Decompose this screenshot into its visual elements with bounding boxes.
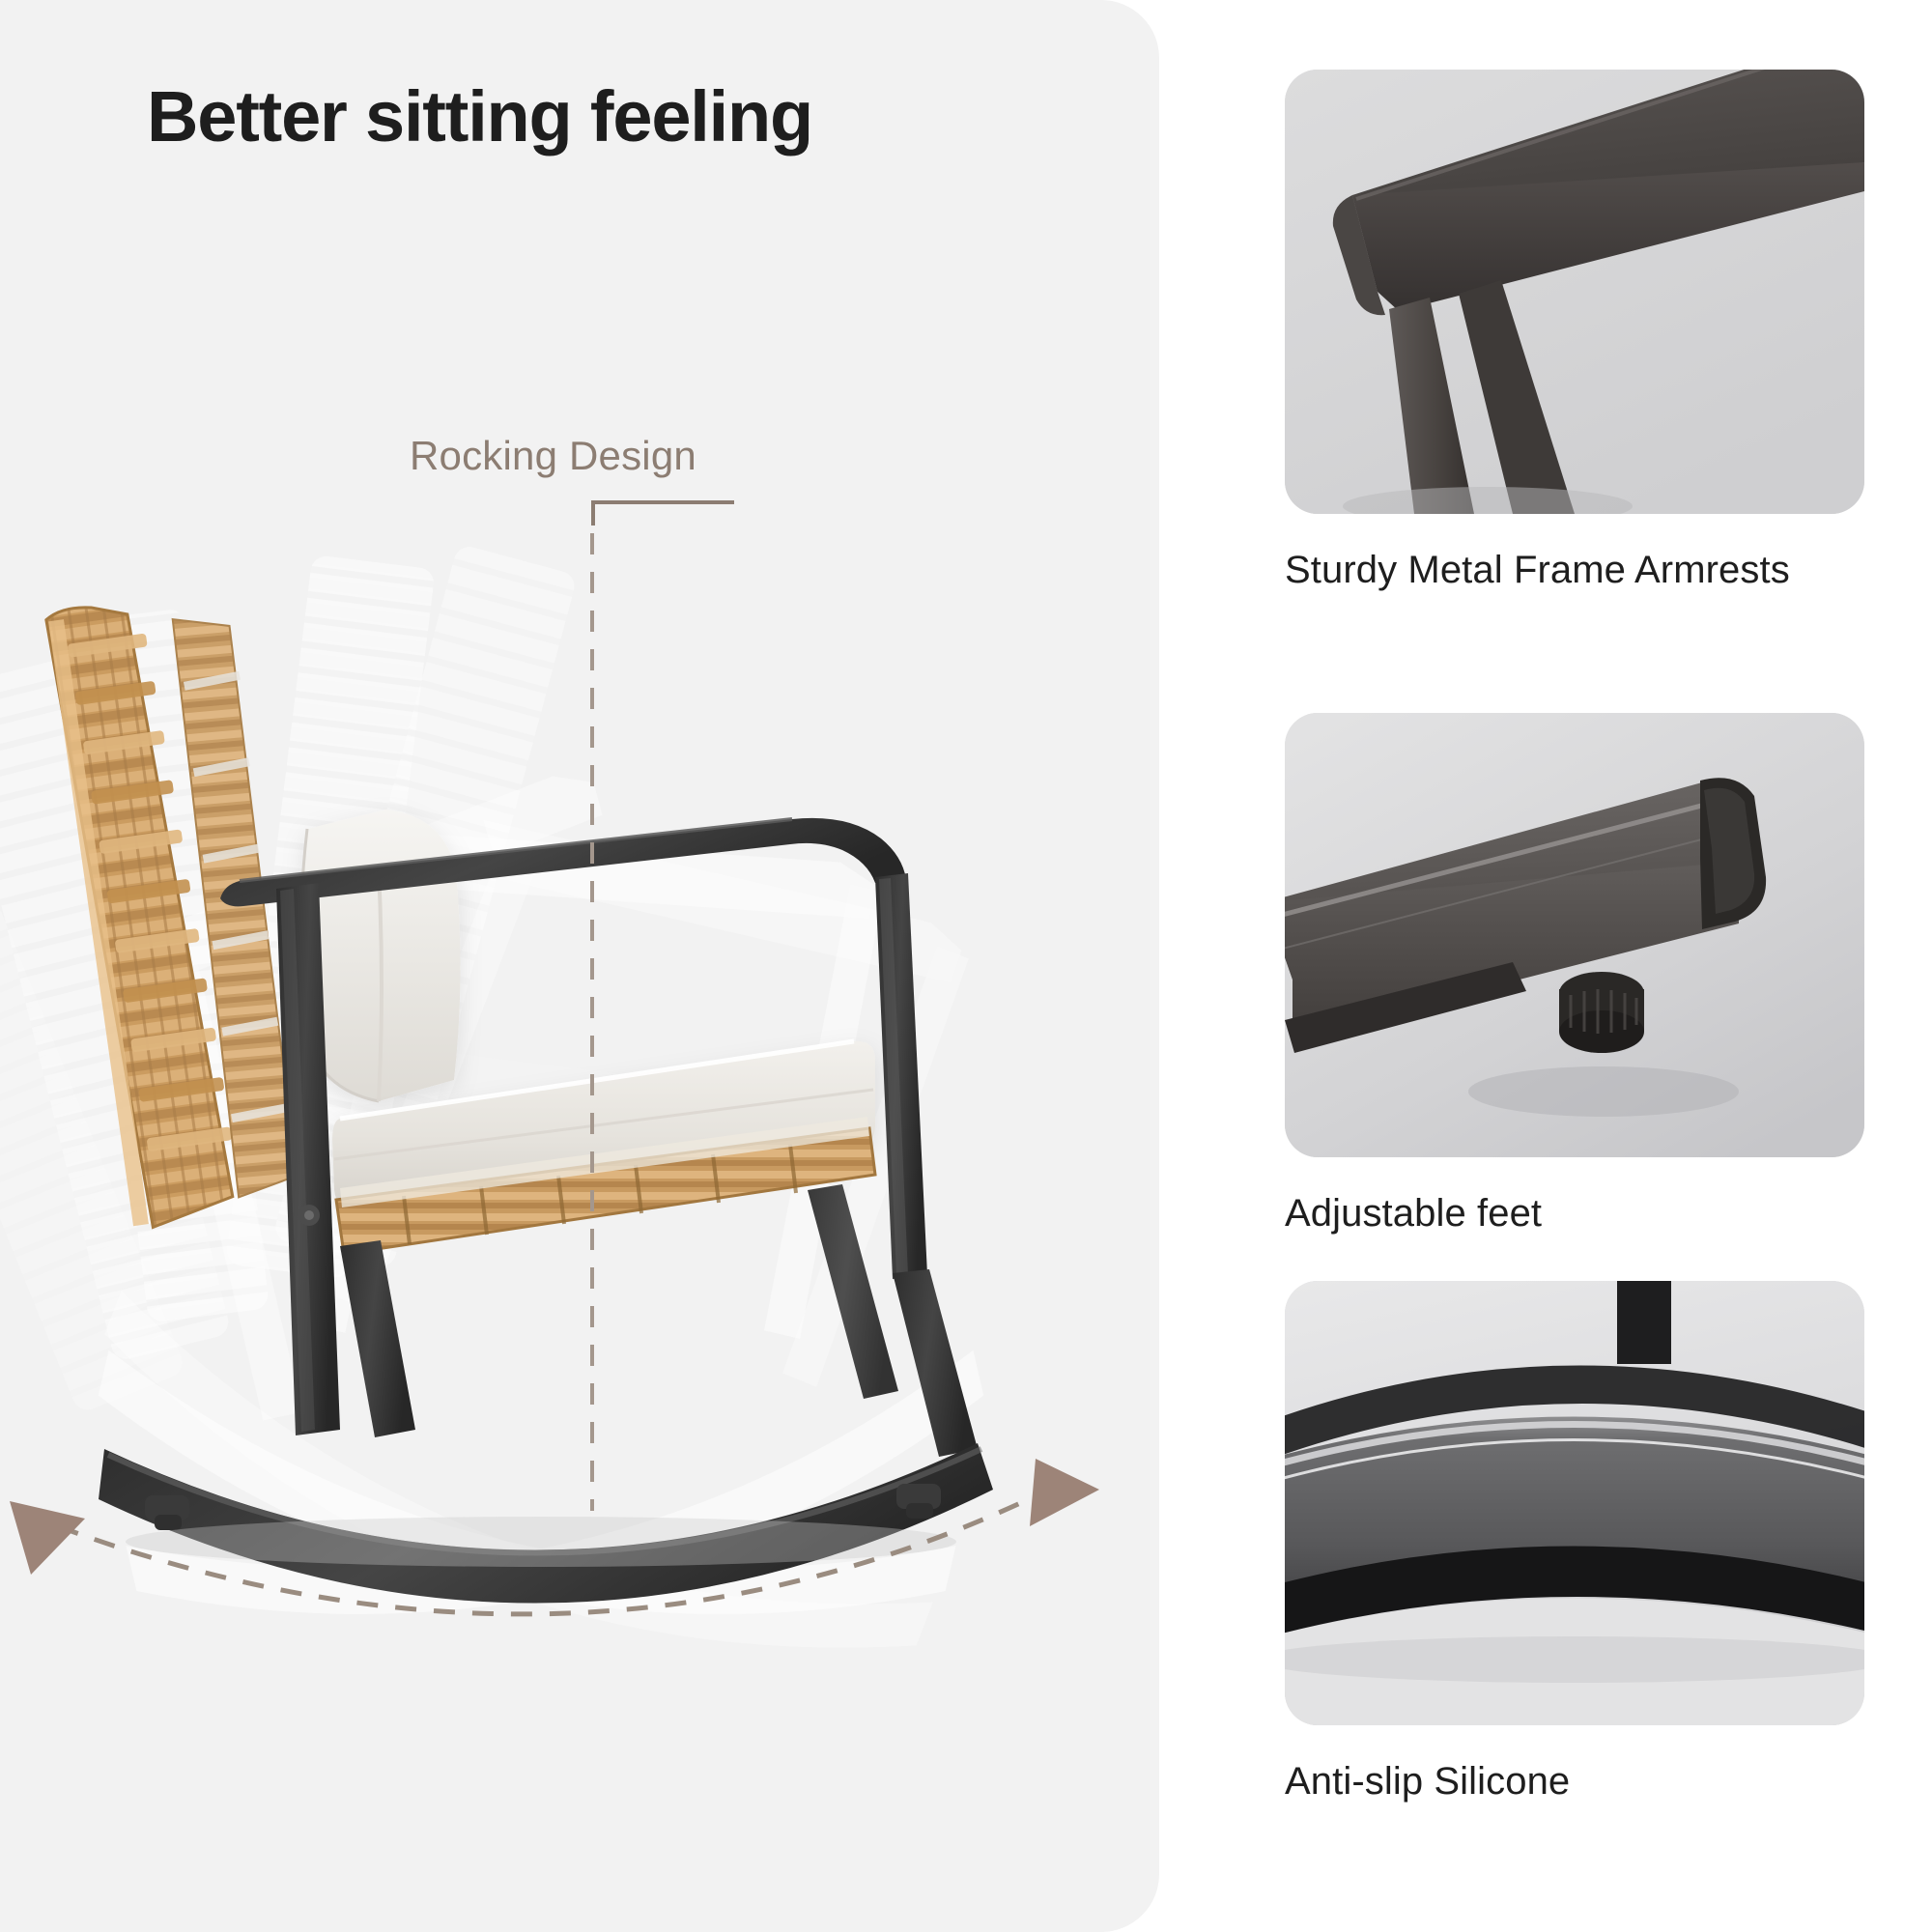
rocking-design-connector-line bbox=[591, 500, 734, 504]
adjustable-knob bbox=[1559, 972, 1644, 1053]
armrest-detail-caption: Sturdy Metal Frame Armrests bbox=[1285, 547, 1864, 594]
infographic-canvas: Better sitting feeling bbox=[0, 0, 1932, 1932]
rocking-design-label: Rocking Design bbox=[410, 433, 696, 479]
rock-direction-arrow-left bbox=[10, 1501, 85, 1575]
left-hero-panel: Better sitting feeling bbox=[0, 0, 1159, 1932]
feature-detail-column: Sturdy Metal Frame Armrests bbox=[1285, 0, 1864, 1932]
adjustable-foot-detail-card[interactable] bbox=[1285, 713, 1864, 1157]
armrest-detail-photo bbox=[1285, 70, 1864, 514]
feature-block-armrest: Sturdy Metal Frame Armrests bbox=[1285, 70, 1864, 594]
chair-mid-leg bbox=[340, 1240, 415, 1437]
anti-slip-silicone-detail-caption: Anti-slip Silicone bbox=[1285, 1758, 1864, 1805]
anti-slip-silicone-detail-card[interactable] bbox=[1285, 1281, 1864, 1725]
vertical-center-dashed-line bbox=[590, 533, 594, 1511]
adjustable-foot-detail-photo bbox=[1285, 713, 1864, 1157]
rock-arc-dashed-path bbox=[58, 1488, 1053, 1614]
adjustable-foot-detail-caption: Adjustable feet bbox=[1285, 1190, 1864, 1237]
armrest-detail-card[interactable] bbox=[1285, 70, 1864, 514]
feature-block-adjustable-feet: Adjustable feet bbox=[1285, 713, 1864, 1237]
feature-block-anti-slip: Anti-slip Silicone bbox=[1285, 1281, 1864, 1805]
rocking-motion-arc bbox=[0, 1430, 1159, 1719]
anti-slip-silicone-detail-photo bbox=[1285, 1281, 1864, 1725]
rock-direction-arrow-right bbox=[1030, 1459, 1099, 1526]
rocking-design-connector-tick bbox=[591, 500, 595, 526]
